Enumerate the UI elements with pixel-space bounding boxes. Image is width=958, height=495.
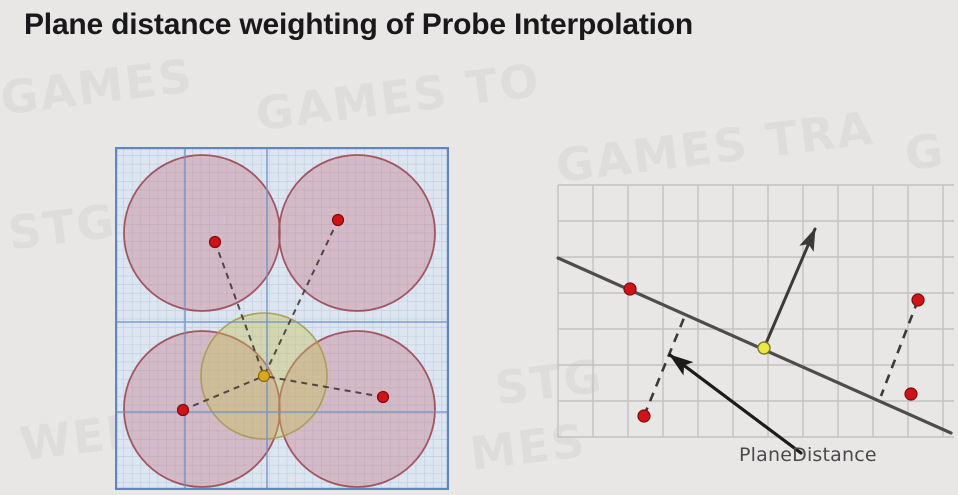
plane-distance-label: PlaneDistance	[739, 444, 877, 466]
plane-distance-svg	[556, 183, 956, 483]
probe-top-right	[279, 155, 435, 311]
plane-distance-callout-arrow	[670, 355, 801, 453]
watermark-text: GAMES TO	[253, 53, 544, 141]
sample-point	[259, 371, 270, 382]
watermark-text: GAMES TRA	[553, 101, 877, 194]
plane-distance-diagram	[556, 183, 956, 483]
probe-top-left	[124, 155, 280, 311]
watermark-text: G	[902, 123, 948, 181]
probe-point-top-left	[210, 237, 221, 248]
probe-point-near	[905, 388, 917, 400]
plane-grid	[558, 185, 954, 437]
plane-normal-arrow	[764, 229, 815, 348]
plane-line	[558, 258, 951, 433]
plane-distance-dashed-right	[881, 300, 918, 396]
watermark-text: GAMES	[0, 48, 196, 125]
probe-interpolation-diagram	[115, 147, 449, 490]
probe-interpolation-svg	[115, 147, 449, 490]
sample-point-on-plane	[758, 342, 770, 354]
probe-point-on-plane	[624, 283, 636, 295]
probe-point-bottom-right	[378, 392, 389, 403]
watermark-text: STG	[5, 194, 119, 261]
page-title: Plane distance weighting of Probe Interp…	[24, 8, 693, 42]
probe-point-below	[638, 410, 650, 422]
probe-point-bottom-left	[178, 405, 189, 416]
probe-point-above	[912, 294, 924, 306]
probe-point-top-right	[333, 215, 344, 226]
